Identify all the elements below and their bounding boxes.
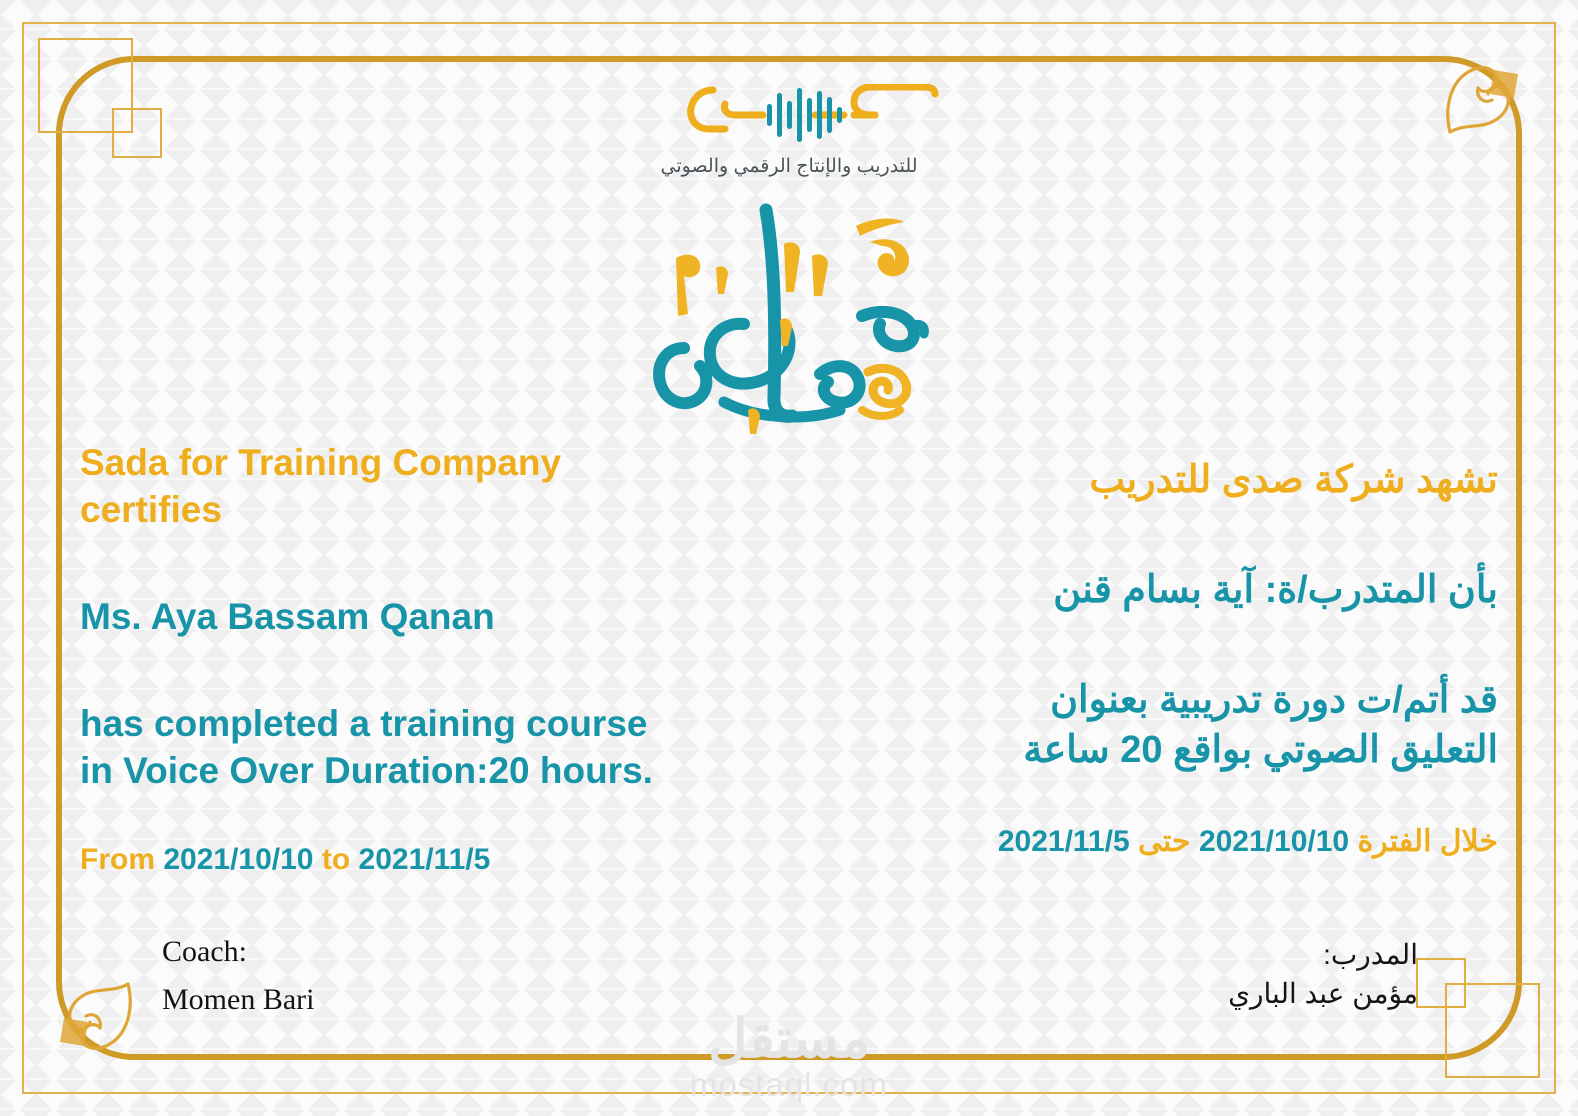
english-from-date-value: 2021/10/10: [163, 843, 313, 876]
arabic-body-line-1: قد أتم/ت دورة تدريبية بعنوان: [858, 675, 1498, 725]
english-to-date-space: [350, 843, 358, 876]
english-coach-name: Momen Bari: [162, 983, 314, 1017]
arabic-body-line-2: التعليق الصوتي بواقع 20 ساعة: [858, 725, 1498, 775]
english-body-line-2: in Voice Over Duration:20 hours.: [80, 748, 810, 795]
arabic-trainer-name: مؤمن عبد الباري: [1228, 977, 1418, 1010]
english-certifier-line-1: Sada for Training Company: [80, 440, 810, 487]
arabic-trainer-label: المدرب:: [1228, 938, 1418, 971]
arabic-certifier-line: تشهد شركة صدى للتدريب: [858, 455, 1498, 505]
english-to-label-space: [314, 843, 322, 876]
arabic-until-label: حتى: [1138, 825, 1191, 858]
arabic-from-date-value: 2021/10/10: [1199, 825, 1349, 858]
sada-audio-waveform-logo-icon: [639, 84, 939, 151]
english-recipient-name: Ms. Aya Bassam Qanan: [80, 594, 810, 641]
english-signature-block: Coach: Momen Bari: [162, 935, 314, 1017]
english-certifier-line-2: certifies: [80, 487, 810, 534]
english-body-line-1: has completed a training course: [80, 701, 810, 748]
arabic-period-label: خلال الفترة: [1357, 825, 1498, 858]
english-to-label: to: [322, 843, 350, 876]
spacer: [80, 534, 810, 594]
arabic-date-range: خلال الفترة 2021/10/10 حتى 2021/11/5: [858, 824, 1498, 859]
spacer: [858, 615, 1498, 675]
arabic-signature-block: المدرب: مؤمن عبد الباري: [1228, 938, 1418, 1010]
spacer: [80, 641, 810, 701]
mostaql-watermark: مستقل mostaql.com: [0, 1012, 1578, 1104]
brand-tagline: للتدريب والإنتاج الرقمي والصوتي: [0, 155, 1578, 178]
watermark-latin-text: mostaql.com: [0, 1066, 1578, 1104]
arabic-to-date-value: 2021/11/5: [998, 825, 1130, 858]
sp: [1130, 825, 1138, 858]
english-from-label: From: [80, 843, 155, 876]
english-to-date-value: 2021/11/5: [359, 843, 491, 876]
sp: [1191, 825, 1199, 858]
corner-square-bottom-right-small: [1416, 958, 1466, 1008]
english-content-column: Sada for Training Company certifies Ms. …: [80, 440, 810, 877]
brand-logo: للتدريب والإنتاج الرقمي والصوتي: [0, 84, 1578, 178]
spacer: [858, 505, 1498, 565]
spacer: [80, 795, 810, 843]
english-date-range: From 2021/10/10 to 2021/11/5: [80, 843, 810, 877]
certificate-title-calligraphy: [0, 196, 1578, 441]
spacer: [858, 776, 1498, 824]
arabic-content-column: تشهد شركة صدى للتدريب بأن المتدرب/ة: آية…: [858, 455, 1498, 859]
english-coach-label: Coach:: [162, 935, 314, 969]
corner-flourish-bottom-left-icon: [38, 956, 158, 1076]
corner-square-bottom-right-large: [1445, 983, 1540, 1078]
arabic-recipient-line: بأن المتدرب/ة: آية بسام قنن: [858, 565, 1498, 615]
watermark-arabic-text: مستقل: [0, 1012, 1578, 1066]
certificate-page: للتدريب والإنتاج الرقمي والصوتي: [0, 0, 1578, 1116]
